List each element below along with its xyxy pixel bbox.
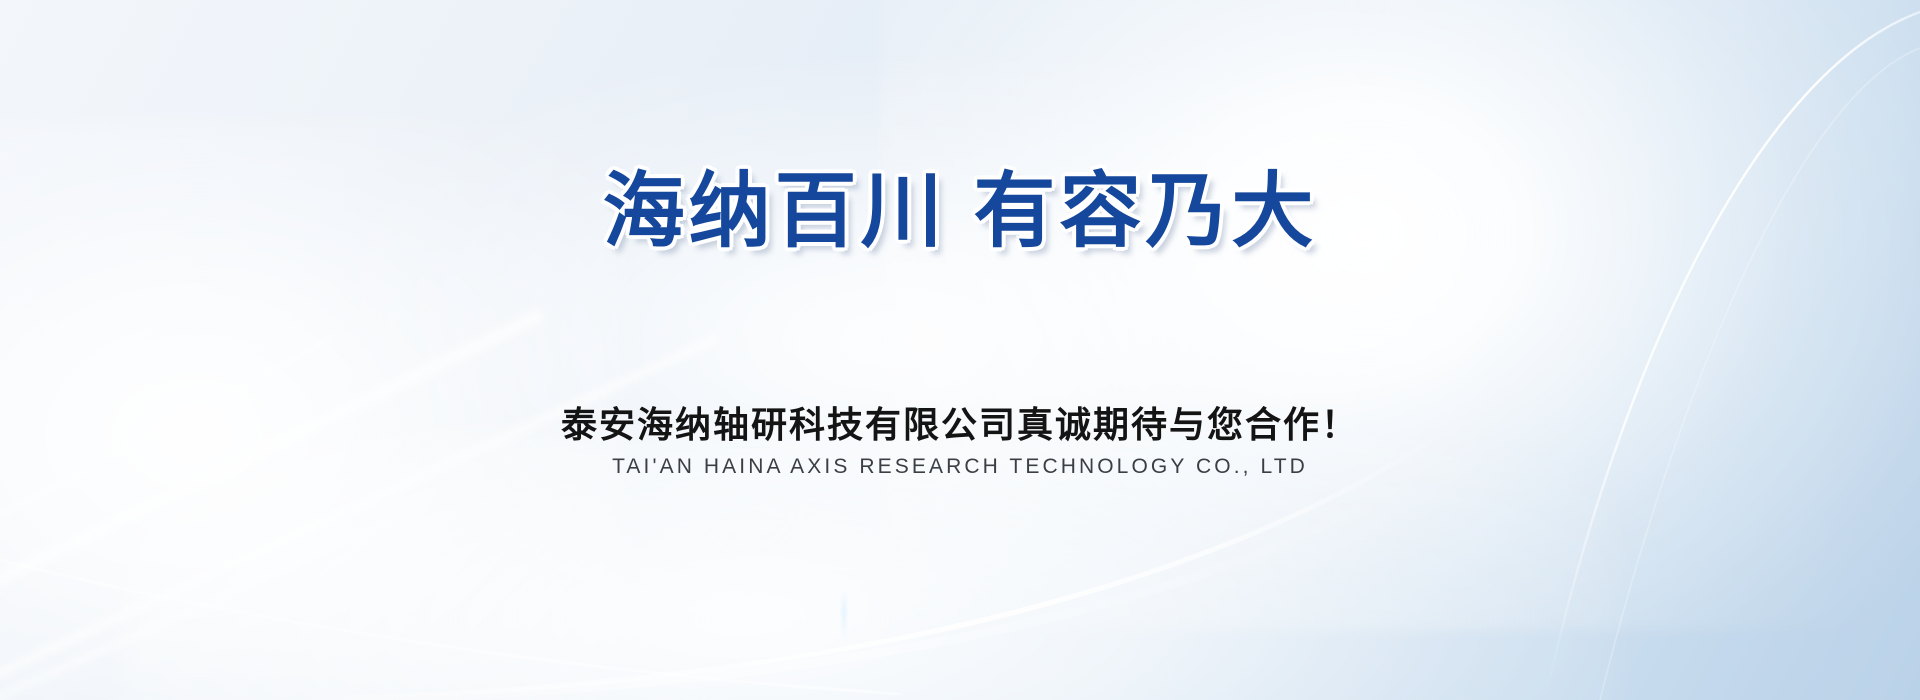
banner-subtitle-english: TAI'AN HAINA AXIS RESEARCH TECHNOLOGY CO… bbox=[0, 455, 1920, 479]
banner-headline: 海纳百川 有容乃大 bbox=[0, 168, 1920, 257]
banner-content: 海纳百川 有容乃大 泰安海纳轴研科技有限公司真诚期待与您合作！ TAI'AN H… bbox=[0, 0, 1920, 700]
banner-subtitle-chinese: 泰安海纳轴研科技有限公司真诚期待与您合作！ bbox=[0, 396, 1920, 448]
hero-banner: 海纳百川 有容乃大 泰安海纳轴研科技有限公司真诚期待与您合作！ TAI'AN H… bbox=[0, 0, 1920, 700]
